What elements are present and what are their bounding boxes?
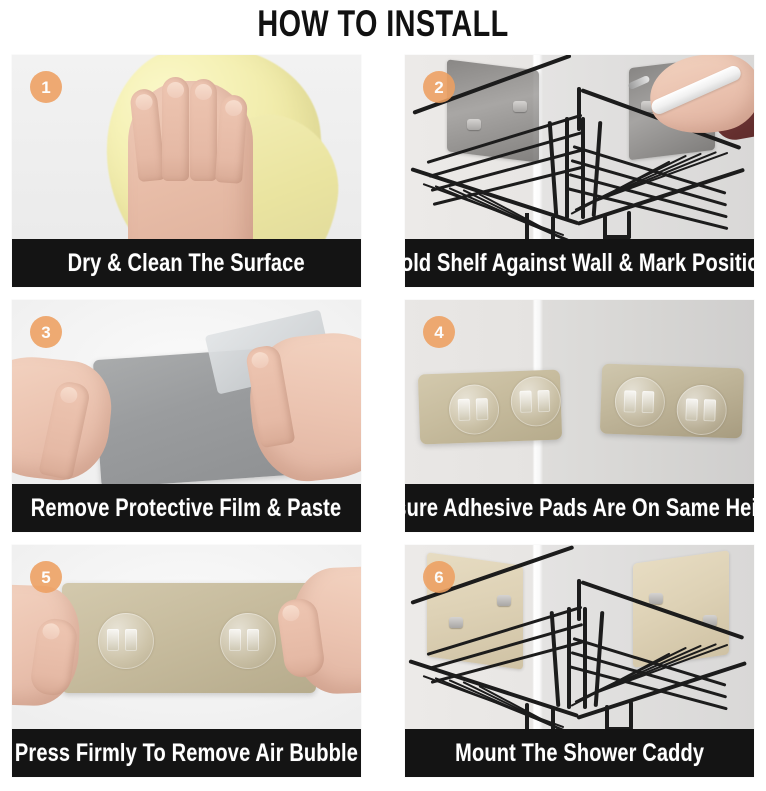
step-panel-5: 5 Press Firmly To Remove Air Bubble <box>12 545 361 777</box>
fingernail <box>42 622 61 640</box>
fingernail <box>250 351 270 370</box>
step-panel-3: 3 Remove Protective Film & Paste <box>12 300 361 532</box>
step-caption-text-2: Hold Shelf Against Wall & Mark Position <box>405 249 754 278</box>
adhesive-pad-left <box>418 370 562 445</box>
caddy-center-post <box>577 579 581 621</box>
step-panel-1: 1 Dry & Clean The Surface <box>12 55 361 287</box>
hook-emboss <box>510 376 562 428</box>
fingernail <box>167 82 184 98</box>
step-badge-2: 2 <box>423 71 455 103</box>
hook-emboss <box>220 613 276 669</box>
adhesive-pad <box>62 583 316 693</box>
infographic-sheet: HOW TO INSTALL 1 Dry & Clean The Surface <box>0 0 766 791</box>
hook-emboss <box>614 376 666 428</box>
steps-grid: 1 Dry & Clean The Surface <box>12 55 754 777</box>
step-caption-text-4: Ensure Adhesive Pads Are On Same Height <box>405 494 754 523</box>
step-panel-4: 4 Ensure Adhesive Pads Are On Same Heigh… <box>405 300 754 532</box>
caddy-hook <box>629 701 633 729</box>
fingernail <box>59 385 79 404</box>
hook-pin <box>467 119 481 130</box>
caddy-corner-rib <box>567 607 571 709</box>
caddy-corner-rib <box>583 607 587 709</box>
finger <box>162 77 189 181</box>
step-caption-text-5: Press Firmly To Remove Air Bubble <box>15 739 358 768</box>
step-badge-5: 5 <box>30 561 62 593</box>
hook-emboss <box>448 384 500 436</box>
step-caption-bar-4: Ensure Adhesive Pads Are On Same Height <box>405 484 754 532</box>
finger <box>190 79 217 181</box>
step-panel-6: 6 Mount The Shower Caddy <box>405 545 754 777</box>
step-caption-bar-2: Hold Shelf Against Wall & Mark Position <box>405 239 754 287</box>
fingernail <box>281 604 300 622</box>
step-caption-bar-1: Dry & Clean The Surface <box>12 239 361 287</box>
page-title: HOW TO INSTALL <box>84 0 681 48</box>
step-badge-1: 1 <box>30 71 62 103</box>
hook-pin <box>649 593 663 604</box>
hook-pin <box>497 595 511 606</box>
adhesive-pad-right <box>600 364 744 439</box>
step-badge-6: 6 <box>423 561 455 593</box>
step-badge-4: 4 <box>423 316 455 348</box>
step-badge-3: 3 <box>30 316 62 348</box>
step-caption-bar-3: Remove Protective Film & Paste <box>12 484 361 532</box>
caddy-corner-rib <box>565 117 569 219</box>
hook-emboss <box>98 613 154 669</box>
step-panel-2: 2 Hold Shelf Against Wall & Mark Positio… <box>405 55 754 287</box>
hook-emboss <box>676 384 728 436</box>
step-caption-bar-6: Mount The Shower Caddy <box>405 729 754 777</box>
caddy-corner-rib <box>548 121 559 217</box>
step-caption-text-3: Remove Protective Film & Paste <box>31 494 341 523</box>
fingernail <box>225 100 243 117</box>
hook-pin <box>449 617 463 628</box>
fingernail <box>135 93 154 111</box>
fingernail <box>195 84 212 100</box>
step-caption-bar-5: Press Firmly To Remove Air Bubble <box>12 729 361 777</box>
step-caption-text-6: Mount The Shower Caddy <box>455 739 704 768</box>
step-caption-text-1: Dry & Clean The Surface <box>68 249 305 278</box>
caddy-corner-rib <box>550 611 561 707</box>
hook-pin <box>513 101 527 112</box>
